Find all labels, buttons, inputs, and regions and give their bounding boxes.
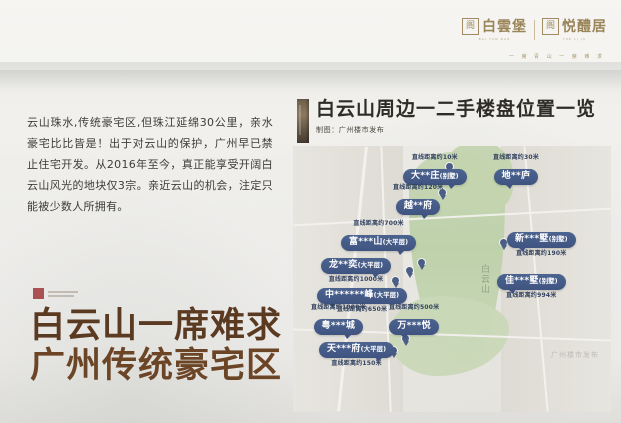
map-panel: 白云山周边一二手楼盘位置一览 制图：广州楼市发布 白云山 广州楼市发布: [293, 92, 611, 412]
map-label-bubble[interactable]: 天***府(大平层): [319, 342, 394, 358]
map-pin[interactable]: [417, 258, 426, 270]
map-mountain-label: 白云山: [479, 264, 489, 294]
mark-lines-icon: [48, 291, 78, 297]
map-label-bubble[interactable]: 粤***城: [314, 319, 364, 335]
map-label-bubble[interactable]: 万***悦: [389, 319, 439, 335]
map-label-distance: 直线距离约500米: [389, 304, 439, 312]
seal-square-icon: [33, 288, 44, 299]
map-label-yuexxfu[interactable]: 直线距离约120米 越**府: [393, 184, 443, 215]
map-label-xinxxxshu[interactable]: 新***墅(别墅) 直线距离约190米: [507, 226, 576, 258]
map-label-yuexxxcheng[interactable]: 直线距离约1000米 粤***城: [311, 304, 366, 335]
brand-divider: [534, 20, 535, 40]
brand-name-left: 白雲堡: [482, 20, 527, 34]
developer-mark: [33, 288, 78, 299]
headline-block: 白云山一席难求 广州传统豪宅区: [30, 306, 282, 386]
map-label-bubble[interactable]: 龙**奕(大平层): [321, 258, 391, 274]
poster-root: 阁 白雲堡 BAI YUN BAO 阁 悦醴居 YUE LI JU 一 席 青 …: [0, 0, 621, 423]
map-label-distance: 直线距离约30米: [493, 154, 539, 162]
brand-pinyin-right: YUE LI JU: [563, 37, 586, 41]
brand-name-right: 悦醴居: [562, 20, 607, 34]
map-pin[interactable]: [405, 266, 414, 278]
map-label-distance: 直线距离约10米: [403, 154, 467, 162]
map-label-distance: 直线距离约700米: [341, 220, 416, 228]
brand-logo-left: 阁 白雲堡 BAI YUN BAO: [462, 18, 527, 41]
map-title-row: 白云山周边一二手楼盘位置一览 制图：广州楼市发布: [297, 98, 596, 143]
map-label-daxxzhuang[interactable]: 直线距离约10米 大**庄(别墅): [403, 154, 467, 185]
map-label-bubble[interactable]: 佳***墅(别墅): [497, 274, 566, 290]
brush-stroke-icon: [297, 99, 309, 143]
seal-icon-left: 阁: [462, 18, 479, 35]
map-label-dixxlu[interactable]: 直线距离约30米 地**庐: [493, 154, 539, 185]
brand-tagline: 一 席 青 山 一 席 难 求: [509, 53, 605, 60]
map-subtitle: 制图：广州楼市发布: [316, 125, 596, 135]
map-label-bubble[interactable]: 中******峰(大平层): [317, 288, 407, 304]
map-label-distance: 直线距离约1000米: [311, 304, 366, 312]
map-label-distance: 直线距离约120米: [393, 184, 443, 192]
map-label-bubble[interactable]: 富***山(大平层): [341, 235, 416, 251]
map-label-longxxyi[interactable]: 龙**奕(大平层) 直线距离约1000米: [321, 252, 391, 284]
map-label-bubble[interactable]: 地**庐: [494, 169, 539, 185]
brand-pinyin-left: BAI YUN BAO: [479, 37, 511, 41]
map-title: 白云山周边一二手楼盘位置一览: [316, 98, 596, 120]
map-label-fuxxxshan[interactable]: 直线距离约700米 富***山(大平层): [341, 220, 416, 251]
headline-line-1: 白云山一席难求: [30, 306, 282, 346]
map-label-tianxxxfu[interactable]: 天***府(大平层) 直线距离约150米: [319, 336, 394, 368]
body-paragraph: 云山珠水,传统豪宅区,但珠江延绵30公里，亲水豪宅比比皆是！出于对云山的保护，广…: [27, 112, 273, 217]
map-label-bubble[interactable]: 越**府: [396, 199, 441, 215]
map-label-jiaxxxshu[interactable]: 佳***墅(别墅) 直线距离约994米: [497, 268, 566, 300]
brand-header: 阁 白雲堡 BAI YUN BAO 阁 悦醴居 YUE LI JU: [462, 18, 607, 41]
map-watermark: 广州楼市发布: [551, 350, 599, 360]
brand-logo-right: 阁 悦醴居 YUE LI JU: [542, 18, 607, 41]
map-label-bubble[interactable]: 大**庄(别墅): [403, 169, 467, 185]
headline-line-2: 广州传统豪宅区: [30, 346, 282, 386]
map-label-wanxxxyue[interactable]: 直线距离约500米 万***悦: [389, 304, 439, 335]
seal-icon-right: 阁: [542, 18, 559, 35]
map-label-bubble[interactable]: 新***墅(别墅): [507, 232, 576, 248]
